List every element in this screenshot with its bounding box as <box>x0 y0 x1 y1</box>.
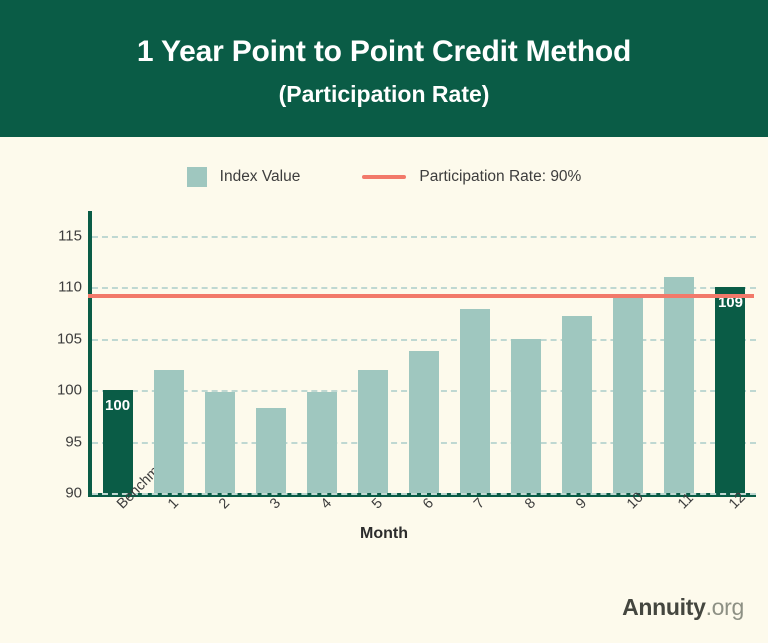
legend-label-index-value: Index Value <box>220 168 301 186</box>
chart-legend: Index Value Participation Rate: 90% <box>0 167 768 187</box>
bar[interactable] <box>613 297 643 493</box>
x-axis-tick-label: 5 <box>369 495 386 512</box>
bar[interactable] <box>460 309 490 493</box>
x-axis-tick-label: 3 <box>267 495 284 512</box>
bar[interactable] <box>511 339 541 493</box>
bar-highlighted[interactable]: 109 <box>715 287 745 493</box>
x-axis-tick-label: 2 <box>216 495 233 512</box>
x-axis-tick-label: 9 <box>573 495 590 512</box>
y-axis-tick-label: 115 <box>58 227 82 244</box>
gridline <box>92 493 756 495</box>
bar[interactable] <box>358 370 388 493</box>
legend-swatch-icon <box>187 167 207 187</box>
bar[interactable] <box>256 408 286 493</box>
bar[interactable] <box>664 277 694 493</box>
x-axis-tick-label: 8 <box>522 495 539 512</box>
x-axis-tick-label: 4 <box>318 495 335 512</box>
legend-label-participation-rate: Participation Rate: 90% <box>419 168 581 186</box>
participation-rate-line <box>88 294 754 298</box>
y-axis-tick-label: 90 <box>65 485 82 502</box>
bar[interactable] <box>409 351 439 493</box>
gridline <box>92 287 756 289</box>
bar[interactable] <box>154 370 184 493</box>
brand-name: Annuity <box>622 594 706 620</box>
x-axis-tick-label: 1 <box>165 495 182 512</box>
bar[interactable] <box>307 392 337 493</box>
brand-logo: Annuity.org <box>622 594 744 621</box>
chart-header: 1 Year Point to Point Credit Method (Par… <box>0 0 768 137</box>
brand-tld: .org <box>706 594 744 620</box>
y-axis-tick-label: 110 <box>58 279 82 296</box>
legend-line-icon <box>362 175 406 179</box>
page-title: 1 Year Point to Point Credit Method <box>137 35 631 70</box>
gridline <box>92 236 756 238</box>
x-axis-title: Month <box>0 525 768 543</box>
bar[interactable] <box>205 392 235 493</box>
legend-item-index-value: Index Value <box>187 167 301 187</box>
y-axis-ticks: 9095100105110115 <box>0 205 82 493</box>
bar-highlighted[interactable]: 100 <box>103 390 133 493</box>
gridline <box>92 339 756 341</box>
bar-value-label: 100 <box>103 397 133 414</box>
chart-plot-wrapper: 9095100105110115 100Benchmark12345678910… <box>0 205 768 505</box>
x-axis-tick-label: 6 <box>420 495 437 512</box>
y-axis-tick-label: 95 <box>65 433 82 450</box>
plot-area: 100Benchmark123456789101110912 <box>92 205 756 493</box>
x-axis-tick-label: 7 <box>471 495 488 512</box>
legend-item-participation-rate: Participation Rate: 90% <box>362 168 581 186</box>
bar[interactable] <box>562 316 592 493</box>
y-axis-tick-label: 100 <box>57 382 82 399</box>
page-subtitle: (Participation Rate) <box>279 81 490 108</box>
y-axis-tick-label: 105 <box>57 330 82 347</box>
